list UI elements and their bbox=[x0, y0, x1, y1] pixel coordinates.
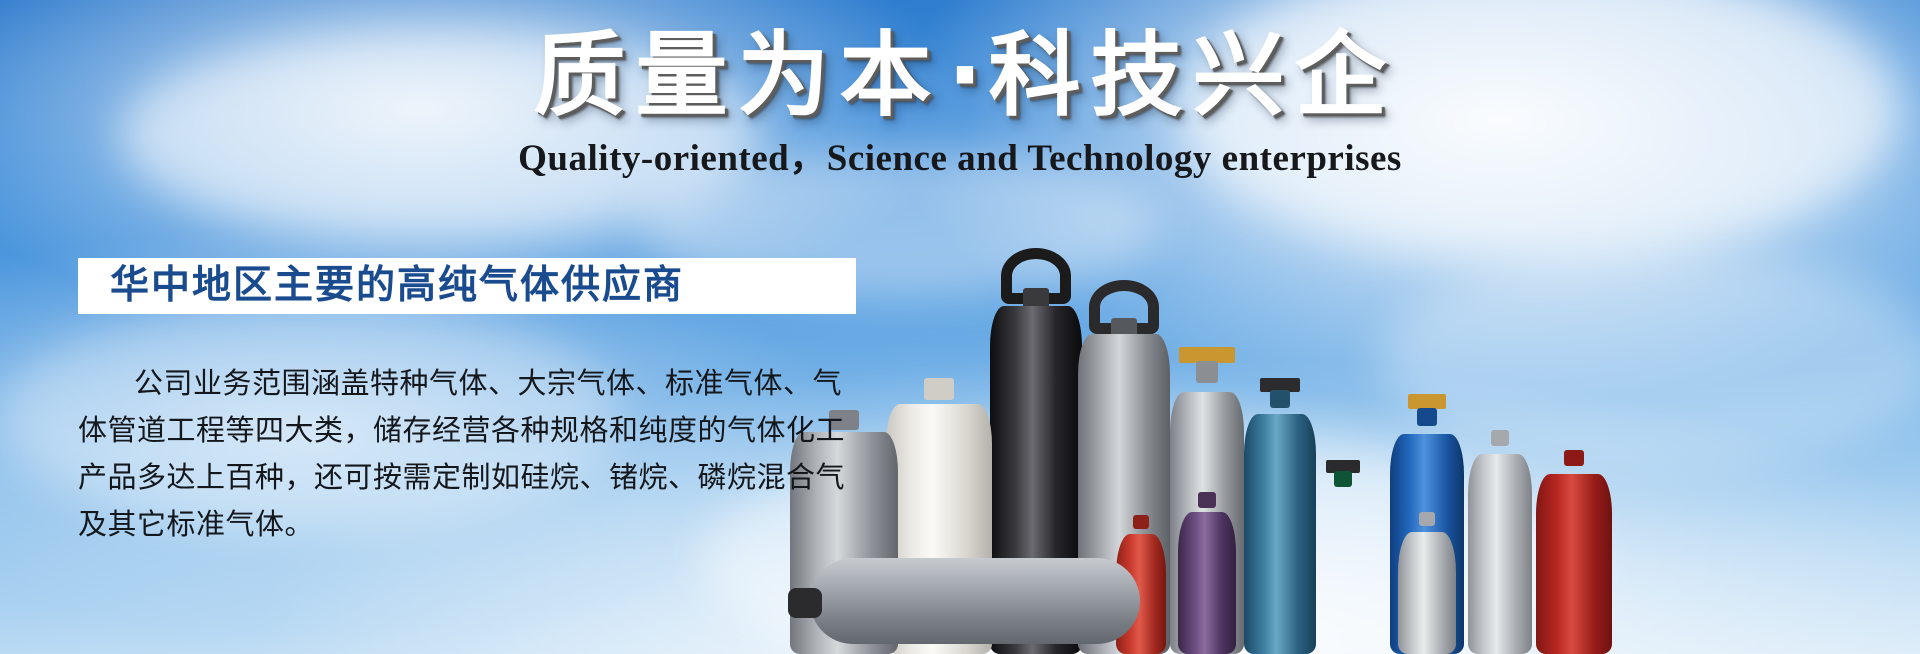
cylinder-green-small bbox=[1312, 484, 1374, 654]
tank-horizontal-grey bbox=[810, 558, 1140, 644]
highlight-bar: 华中地区主要的高纯气体供应商 bbox=[78, 258, 856, 314]
cylinder-teal-blue bbox=[1244, 404, 1316, 654]
banner-subheadline: Quality-oriented，Science and Technology … bbox=[0, 136, 1920, 182]
cylinder-red-large bbox=[1536, 464, 1612, 654]
gas-cylinder-cluster bbox=[920, 134, 1920, 654]
headline-right: 科技兴企 bbox=[988, 22, 1396, 129]
cylinder-aluminium bbox=[1468, 444, 1532, 654]
cylinder-purple-small bbox=[1178, 504, 1236, 654]
tank-valve-icon bbox=[788, 588, 822, 618]
highlight-bar-text: 华中地区主要的高纯气体供应商 bbox=[78, 258, 684, 314]
banner-headline: 质量为本·科技兴企 bbox=[0, 22, 1920, 130]
headline-left: 质量为本 bbox=[534, 22, 942, 129]
hero-banner: 质量为本·科技兴企 Quality-oriented，Science and T… bbox=[0, 0, 1920, 654]
banner-body-paragraph: 公司业务范围涵盖特种气体、大宗气体、标准气体、气体管道工程等四大类，储存经营各种… bbox=[78, 360, 868, 548]
headline-separator: · bbox=[942, 22, 989, 129]
cylinder-aluminium bbox=[1398, 524, 1456, 654]
